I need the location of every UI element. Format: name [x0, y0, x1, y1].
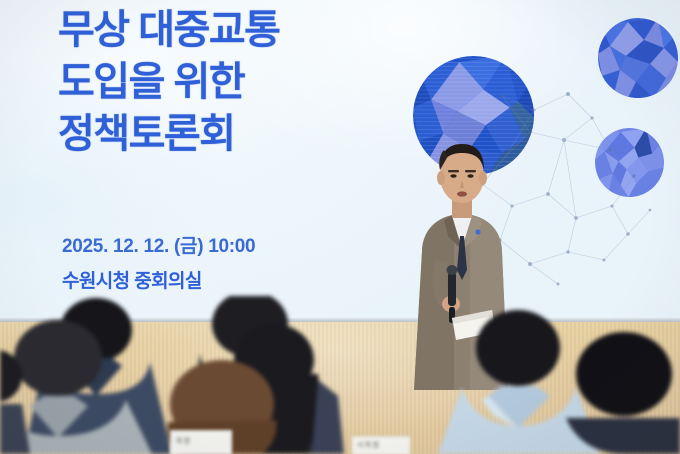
faceted-circle-top-right-icon — [598, 18, 678, 98]
slide-title-line-2: 도입을 위한 — [58, 56, 418, 108]
slide-title: 무상 대중교통 도입을 위한 정책토론회 — [58, 4, 418, 160]
photo-canvas: 무상 대중교통 도입을 위한 정책토론회 2025. 12. 12. (금) 1… — [0, 0, 680, 454]
desk-nameplate-text: 의 원 — [176, 436, 190, 446]
slide-venue: 수원시청 중회의실 — [62, 266, 202, 293]
slide-date-time: 2025. 12. 12. (금) 10:00 — [62, 231, 255, 258]
desk-nameplate-text: 시 의 원 — [357, 440, 379, 450]
slide-title-line-3: 정책토론회 — [58, 108, 418, 160]
slide-title-line-1: 무상 대중교통 — [58, 4, 418, 56]
audience-foreground — [0, 296, 680, 454]
audience-member-dark-shirt — [566, 332, 680, 454]
